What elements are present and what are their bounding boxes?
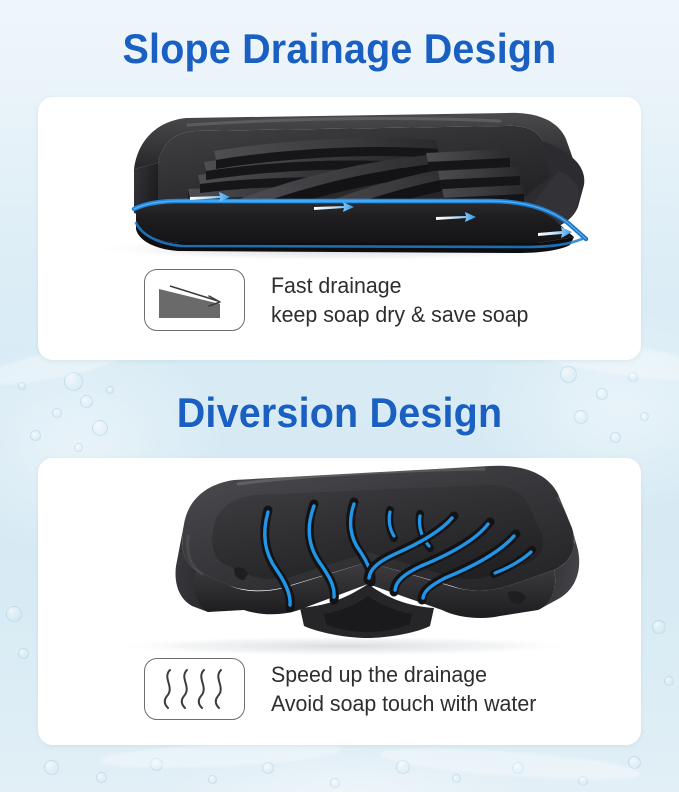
feature-line-2: keep soap dry & save soap <box>271 300 528 329</box>
feature-line-2: Avoid soap touch with water <box>271 689 536 718</box>
feature-line-1: Speed up the drainage <box>271 660 536 689</box>
feature-text-fast-drainage: Fast drainage keep soap dry & save soap <box>271 271 528 329</box>
section-heading-diversion: Diversion Design <box>20 389 658 437</box>
section-heading-slope-drainage: Slope Drainage Design <box>20 25 658 73</box>
feature-row-fast-drainage: Fast drainage keep soap dry & save soap <box>38 269 641 331</box>
card-slope-drainage: Fast drainage keep soap dry & save soap <box>38 97 641 360</box>
product-photo-diversion <box>38 458 641 656</box>
feature-line-1: Fast drainage <box>271 271 528 300</box>
feature-text-speed-drainage: Speed up the drainage Avoid soap touch w… <box>271 660 536 718</box>
infographic-page: Slope Drainage Design <box>0 0 679 792</box>
water-streams-icon <box>144 658 245 720</box>
feature-row-speed-drainage: Speed up the drainage Avoid soap touch w… <box>38 658 641 720</box>
slope-wedge-icon <box>144 269 245 331</box>
card-diversion-design: Speed up the drainage Avoid soap touch w… <box>38 458 641 745</box>
product-photo-slope-drainage <box>38 97 641 260</box>
